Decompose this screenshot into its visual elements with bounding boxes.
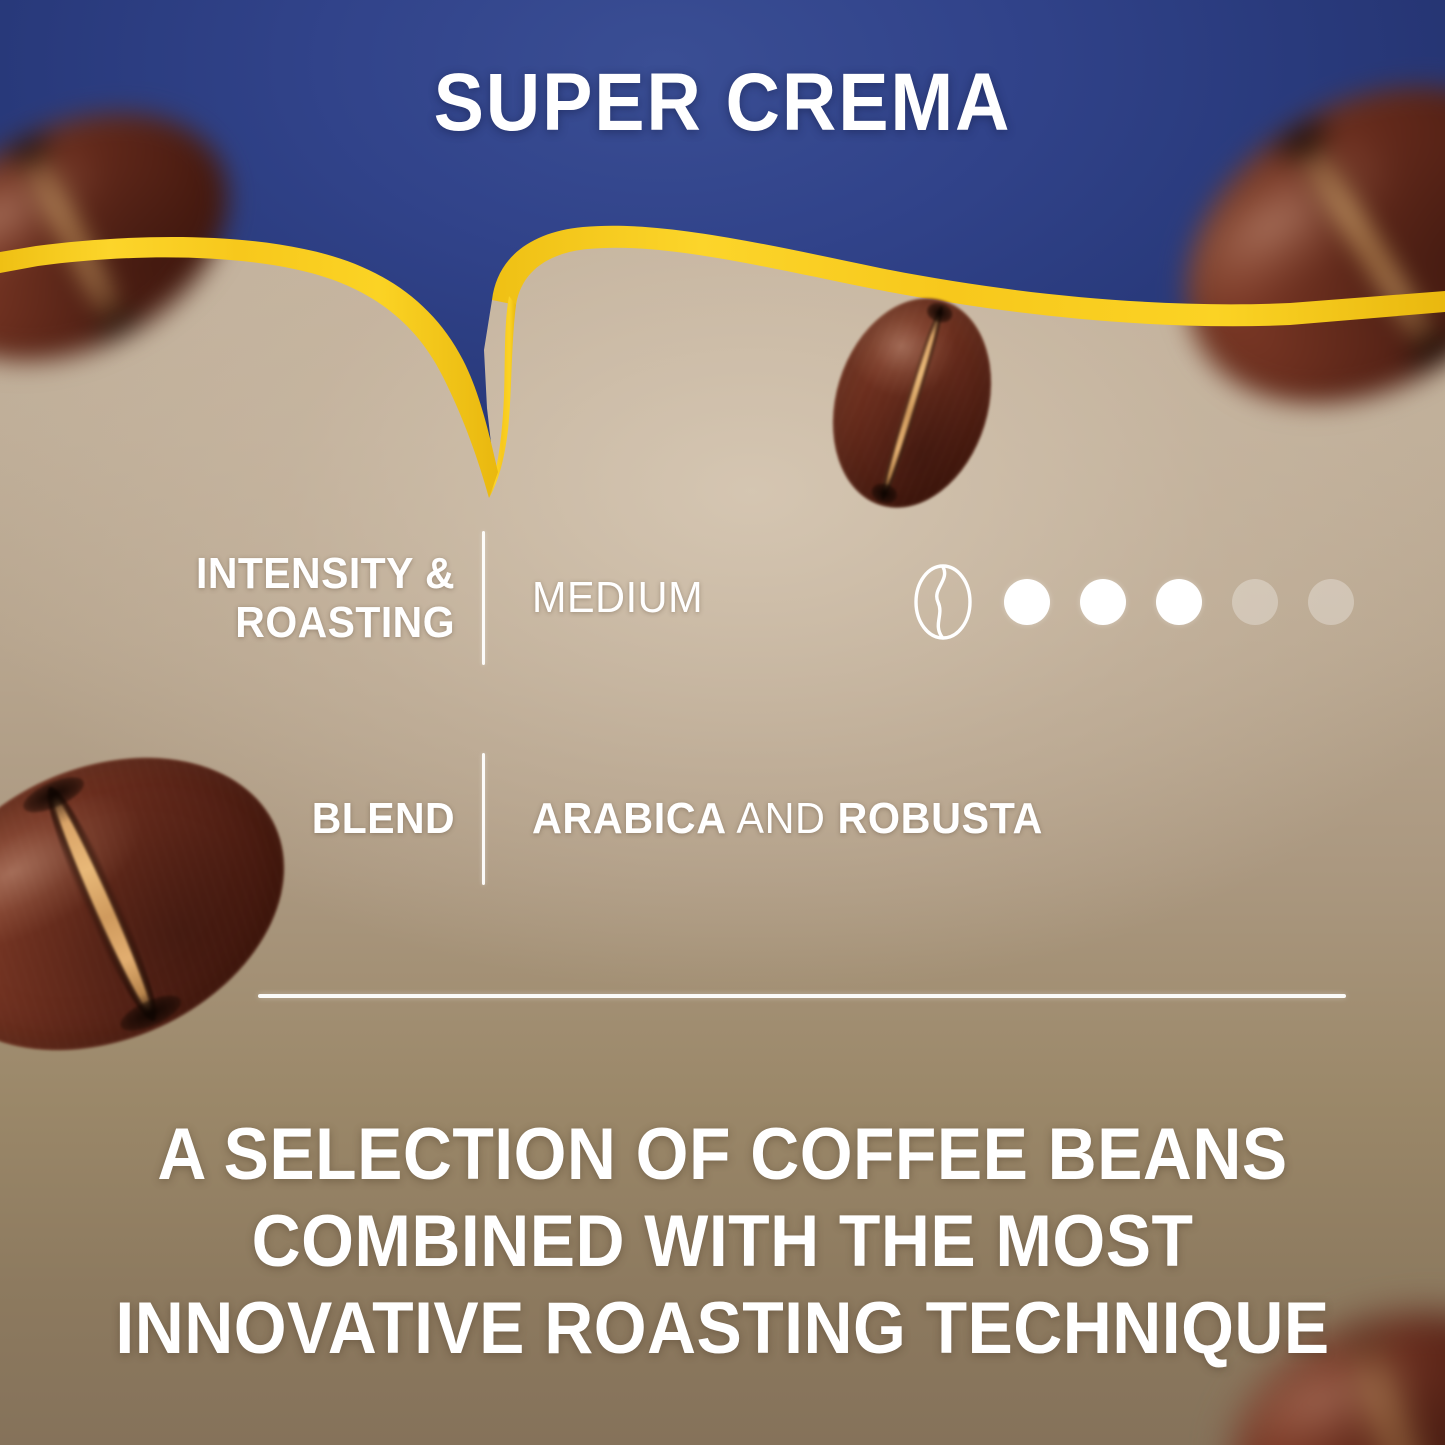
intensity-dot-2 <box>1080 579 1126 625</box>
tagline: A SELECTION OF COFFEE BEANS COMBINED WIT… <box>51 1112 1395 1373</box>
blend-part-robusta: ROBUSTA <box>838 794 1043 843</box>
intensity-dot-1 <box>1004 579 1050 625</box>
intensity-dot-4 <box>1232 579 1278 625</box>
tagline-line-1: A SELECTION OF COFFEE BEANS <box>51 1112 1395 1199</box>
product-infographic: SUPER CREMA INTENSITY & ROASTING MEDIUM … <box>0 0 1445 1445</box>
tagline-line-2: COMBINED WITH THE MOST <box>51 1199 1395 1286</box>
blend-part-and: AND <box>727 794 838 843</box>
spec-value-intensity-roasting: MEDIUM <box>532 573 703 623</box>
spec-divider-blend <box>482 753 485 885</box>
spec-value-blend: ARABICA AND ROBUSTA <box>532 794 1043 844</box>
spec-label-blend: BLEND <box>134 794 455 843</box>
tagline-line-3: INNOVATIVE ROASTING TECHNIQUE <box>51 1286 1395 1373</box>
spec-divider-intensity <box>482 531 485 665</box>
intensity-dot-3 <box>1156 579 1202 625</box>
section-divider <box>258 994 1346 998</box>
spec-row-blend: BLEND ARABICA AND ROBUSTA <box>110 752 1350 886</box>
product-title: SUPER CREMA <box>58 62 1387 144</box>
intensity-dot-5 <box>1308 579 1354 625</box>
coffee-bean-outline-icon <box>912 562 974 642</box>
intensity-meter <box>912 562 1354 642</box>
bean-outline-svg <box>912 562 974 642</box>
spec-label-intensity-roasting: INTENSITY & ROASTING <box>134 549 455 648</box>
blend-part-arabica: ARABICA <box>532 794 727 843</box>
